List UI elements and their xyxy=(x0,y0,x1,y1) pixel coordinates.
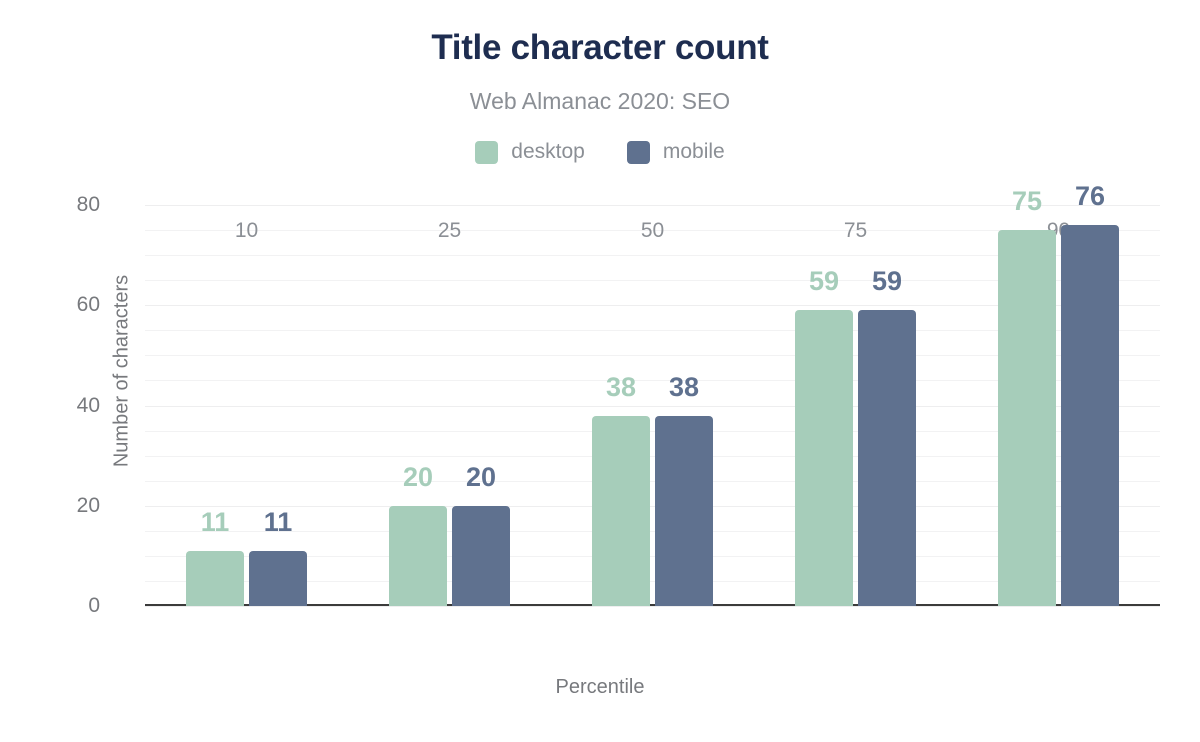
x-axis-tick-label: 50 xyxy=(641,219,664,243)
x-axis-tick-label: 75 xyxy=(844,219,867,243)
y-axis-tick-label: 0 xyxy=(40,594,100,618)
bar-desktop-50[interactable] xyxy=(592,416,650,606)
bar-mobile-25[interactable] xyxy=(452,506,510,606)
legend-swatch-desktop xyxy=(475,141,498,164)
legend-swatch-mobile xyxy=(627,141,650,164)
x-axis-tick-label: 25 xyxy=(438,219,461,243)
gridline-major xyxy=(145,606,1160,607)
bar-mobile-75[interactable] xyxy=(858,310,916,606)
x-axis-title: Percentile xyxy=(0,676,1200,699)
legend-label-mobile: mobile xyxy=(663,140,725,164)
legend-label-desktop: desktop xyxy=(511,140,585,164)
gridline-major xyxy=(145,205,1160,206)
bar-desktop-25[interactable] xyxy=(389,506,447,606)
bar-mobile-90[interactable] xyxy=(1061,225,1119,606)
chart-legend: desktop mobile xyxy=(0,140,1200,164)
bar-label-mobile-75: 59 xyxy=(872,266,902,297)
bar-label-mobile-90: 76 xyxy=(1075,181,1105,212)
bar-label-mobile-10: 11 xyxy=(264,507,293,538)
bar-label-desktop-25: 20 xyxy=(403,462,433,493)
bar-label-mobile-25: 20 xyxy=(466,462,496,493)
bar-mobile-10[interactable] xyxy=(249,551,307,606)
bar-label-desktop-10: 11 xyxy=(201,507,230,538)
bar-label-mobile-50: 38 xyxy=(669,372,699,403)
bar-mobile-50[interactable] xyxy=(655,416,713,606)
y-axis-tick-label: 80 xyxy=(40,193,100,217)
chart-subtitle: Web Almanac 2020: SEO xyxy=(0,88,1200,115)
legend-item-desktop[interactable]: desktop xyxy=(475,140,585,164)
bar-desktop-75[interactable] xyxy=(795,310,853,606)
chart-title: Title character count xyxy=(0,28,1200,68)
bar-label-desktop-50: 38 xyxy=(606,372,636,403)
y-axis-title: Number of characters xyxy=(111,275,134,467)
legend-item-mobile[interactable]: mobile xyxy=(627,140,725,164)
x-axis-tick-label: 10 xyxy=(235,219,258,243)
y-axis-tick-label: 40 xyxy=(40,394,100,418)
bar-label-desktop-90: 75 xyxy=(1012,186,1042,217)
bar-label-desktop-75: 59 xyxy=(809,266,839,297)
y-axis-tick-label: 60 xyxy=(40,293,100,317)
bar-desktop-90[interactable] xyxy=(998,230,1056,606)
bar-chart: Title character count Web Almanac 2020: … xyxy=(0,0,1200,742)
bar-desktop-10[interactable] xyxy=(186,551,244,606)
y-axis-tick-label: 20 xyxy=(40,494,100,518)
plot-area: 020406080101111252020503838755959907576 xyxy=(145,205,1160,606)
